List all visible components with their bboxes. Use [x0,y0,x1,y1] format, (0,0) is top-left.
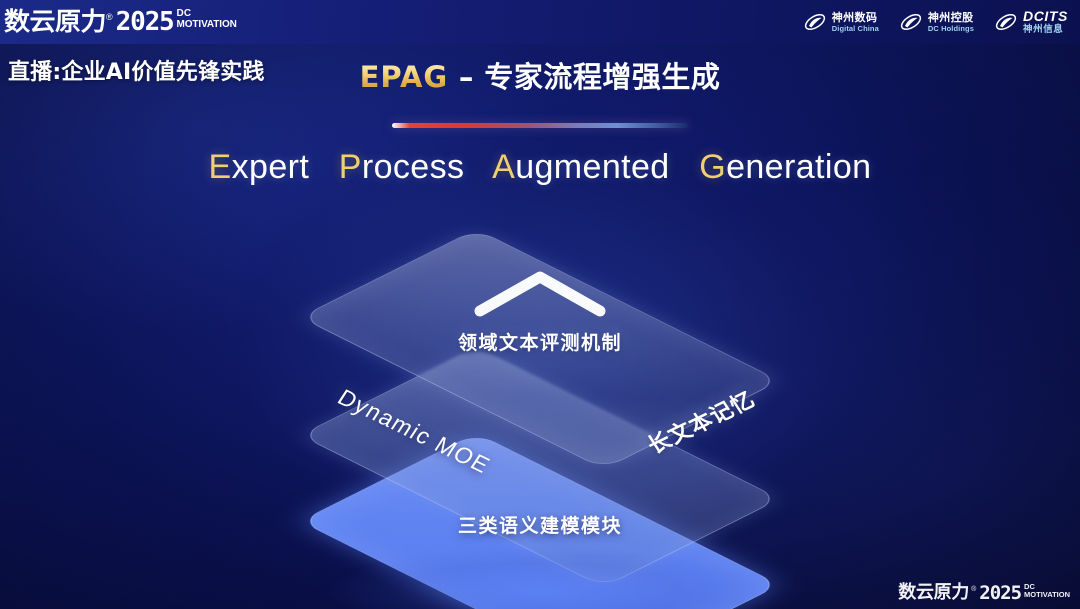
layer-label-top: 领域文本评测机制 [458,328,622,355]
subtitle-word-expert: Expert [209,148,310,186]
page-subtitle: Expert Process Augmented Generation [0,148,1080,187]
chevron-up-icon [470,267,610,319]
watermark-name-cn: 数云原力 [898,583,969,603]
corner-watermark: 数云原力 ® 2025 DC MOTIVATION [898,583,1070,603]
title-acronym: EPAG [360,60,449,94]
registered-mark-icon: ® [106,11,113,23]
layered-stack-diagram: 三类语义建模模块 Dynamic MOE 长文本记忆 领域文本评测机制 [280,232,800,562]
gradient-divider [392,123,688,128]
swirl-icon [899,11,923,33]
partner-logo-digital-china: 神州数码 Digital China [803,11,879,33]
partner-name-cn: 神州信息 [1023,24,1068,35]
slide-canvas: 数云原力 ® 2025 DC MOTIVATION 神州数码 Digital C… [0,0,1080,609]
subtitle-word-process: Process [339,148,465,186]
partner-name-en: DCITS [1023,9,1068,24]
watermark-dc-motivation: DC MOTIVATION [1024,583,1070,600]
partner-logos: 神州数码 Digital China 神州控股 DC Holdings [803,9,1072,35]
swirl-icon [803,11,827,33]
subtitle-word-generation: Generation [699,148,871,186]
swirl-icon [994,11,1018,33]
partner-name-cn: 神州控股 [928,12,974,24]
page-title: EPAG – 专家流程增强生成 [0,54,1080,96]
partner-logo-dc-holdings: 神州控股 DC Holdings [899,11,974,33]
partner-name-en: DC Holdings [928,24,974,33]
brand-dc-line2: MOTIVATION [176,19,236,30]
partner-name-en: Digital China [832,24,879,33]
brand-dc-motivation: DC MOTIVATION [176,9,236,30]
watermark-dc-line2: MOTIVATION [1024,591,1070,600]
brand-dc-line1: DC [176,9,236,19]
partner-name-cn: 神州数码 [832,12,879,24]
brand-year: 2025 [116,8,174,36]
title-separator: – [448,60,484,94]
brand-name-cn: 数云原力 [4,8,106,36]
top-bar: 数云原力 ® 2025 DC MOTIVATION 神州数码 Digital C… [0,0,1080,44]
partner-logo-dcits: DCITS 神州信息 [994,9,1068,35]
subtitle-word-augmented: Augmented [492,148,670,186]
title-chinese: 专家流程增强生成 [484,60,720,94]
watermark-year: 2025 [979,583,1021,603]
brand-logo: 数云原力 ® 2025 DC MOTIVATION [6,8,237,36]
layer-label-bottom: 三类语义建模模块 [458,511,622,538]
watermark-registered-mark-icon: ® [971,585,976,594]
